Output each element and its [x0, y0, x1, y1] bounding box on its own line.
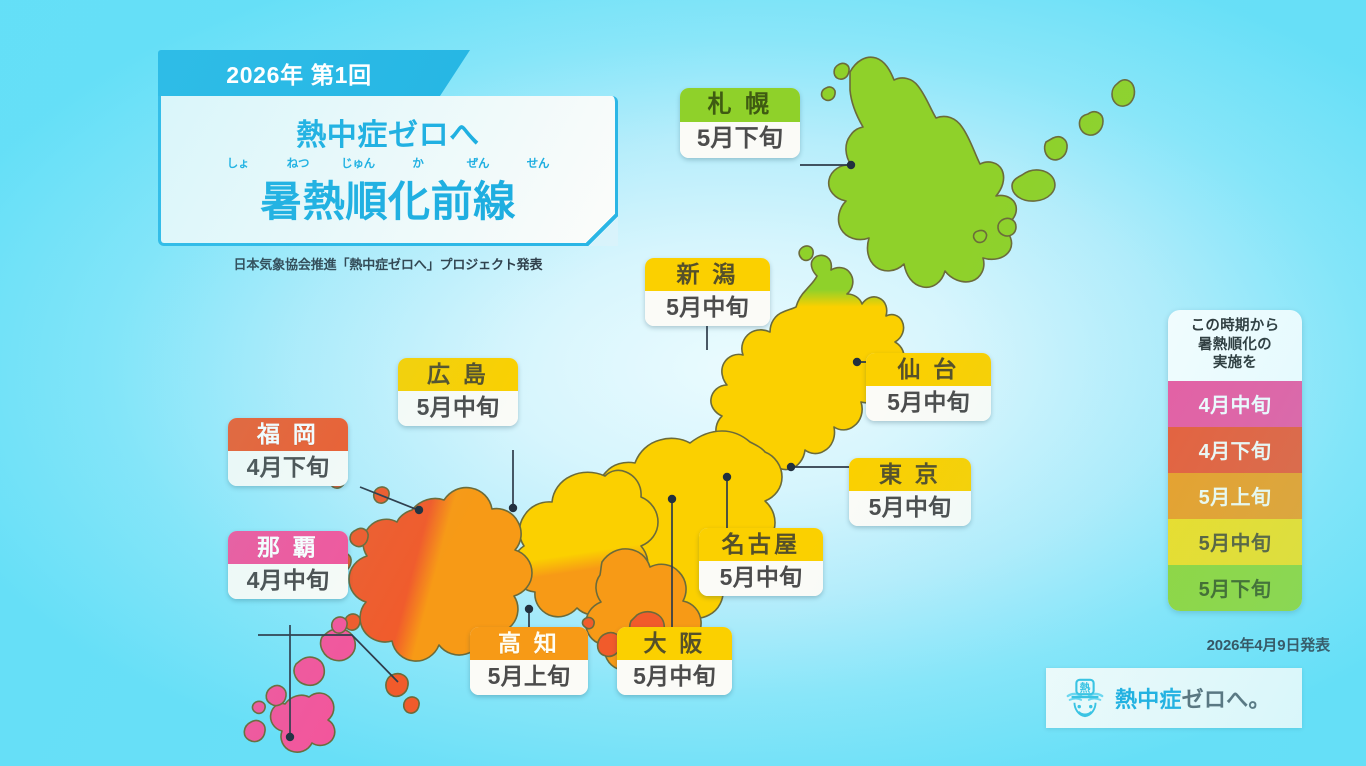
logo-text-blue: 熱中症: [1115, 687, 1182, 712]
netsuchusho-mark-icon: 熱: [1062, 675, 1108, 721]
city-label-tokyo[interactable]: 東 京 5月中旬: [849, 458, 971, 526]
city-label-sapporo[interactable]: 札 幌 5月下旬: [680, 88, 800, 158]
legend-heading-line-1: この時期から: [1172, 317, 1298, 336]
ruby-1: しょ: [208, 155, 268, 171]
project-logo[interactable]: 熱 熱中症ゼロへ。: [1046, 668, 1302, 728]
city-date-osaka: 5月中旬: [617, 660, 732, 695]
legend-row-mid-april[interactable]: 4月中旬: [1168, 381, 1302, 427]
city-label-fukuoka[interactable]: 福 岡 4月下旬: [228, 418, 348, 486]
city-date-sapporo: 5月下旬: [680, 122, 800, 158]
release-date: 2026年4月9日発表: [1140, 634, 1330, 655]
city-name-osaka: 大 阪: [617, 627, 732, 660]
logo-text-gray: ゼロへ。: [1182, 687, 1271, 712]
title-line-2: 暑熱順化前線: [260, 168, 516, 229]
city-date-niigata: 5月中旬: [645, 291, 770, 326]
city-label-kochi[interactable]: 高 知 5月上旬: [470, 627, 588, 695]
city-name-sapporo: 札 幌: [680, 88, 800, 122]
city-date-naha: 4月中旬: [228, 564, 348, 599]
legend-heading-line-2: 暑熱順化の: [1172, 336, 1298, 355]
city-name-nagoya: 名古屋: [699, 528, 823, 561]
city-label-sendai[interactable]: 仙 台 5月中旬: [866, 353, 991, 421]
city-date-hiroshima: 5月中旬: [398, 391, 518, 426]
city-label-naha[interactable]: 那 覇 4月中旬: [228, 531, 348, 599]
ruby-6: せん: [508, 155, 568, 171]
city-name-kochi: 高 知: [470, 627, 588, 660]
city-name-hiroshima: 広 島: [398, 358, 518, 391]
issue-ribbon: 2026年 第1回: [158, 50, 440, 96]
legend-row-late-may[interactable]: 5月下旬: [1168, 565, 1302, 611]
city-label-hiroshima[interactable]: 広 島 5月中旬: [398, 358, 518, 426]
legend-row-mid-may[interactable]: 5月中旬: [1168, 519, 1302, 565]
legend-panel: この時期から 暑熱順化の 実施を 4月中旬 4月下旬 5月上旬 5月中旬 5月下…: [1168, 310, 1302, 611]
city-date-sendai: 5月中旬: [866, 386, 991, 421]
city-name-tokyo: 東 京: [849, 458, 971, 491]
legend-heading-line-3: 実施を: [1172, 354, 1298, 373]
city-label-osaka[interactable]: 大 阪 5月中旬: [617, 627, 732, 695]
title-card: 2026年 第1回 熱中症ゼロへ しょ ねつ じゅん か ぜん せん 暑熱順化前…: [158, 50, 618, 273]
title-caption: 日本気象協会推進「熱中症ゼロへ」プロジェクト発表: [158, 254, 618, 273]
city-label-niigata[interactable]: 新 潟 5月中旬: [645, 258, 770, 326]
city-date-fukuoka: 4月下旬: [228, 451, 348, 486]
legend-heading: この時期から 暑熱順化の 実施を: [1168, 310, 1302, 381]
issue-ribbon-text: 2026年 第1回: [226, 56, 372, 90]
city-date-kochi: 5月上旬: [470, 660, 588, 695]
city-label-nagoya[interactable]: 名古屋 5月中旬: [699, 528, 823, 596]
city-name-fukuoka: 福 岡: [228, 418, 348, 451]
legend-row-late-april[interactable]: 4月下旬: [1168, 427, 1302, 473]
title-line-1: 熱中症ゼロへ: [296, 110, 480, 154]
logo-wordmark: 熱中症ゼロへ。: [1115, 682, 1271, 714]
city-date-nagoya: 5月中旬: [699, 561, 823, 596]
city-name-niigata: 新 潟: [645, 258, 770, 291]
city-date-tokyo: 5月中旬: [849, 491, 971, 526]
legend-row-early-may[interactable]: 5月上旬: [1168, 473, 1302, 519]
city-name-sendai: 仙 台: [866, 353, 991, 386]
svg-text:熱: 熱: [1079, 681, 1091, 694]
infographic-canvas: 札 幌 5月下旬 新 潟 5月中旬 仙 台 5月中旬 東 京 5月中旬 名古屋 …: [0, 0, 1366, 766]
title-card-body: 熱中症ゼロへ しょ ねつ じゅん か ぜん せん 暑熱順化前線: [158, 96, 618, 246]
city-name-naha: 那 覇: [228, 531, 348, 564]
